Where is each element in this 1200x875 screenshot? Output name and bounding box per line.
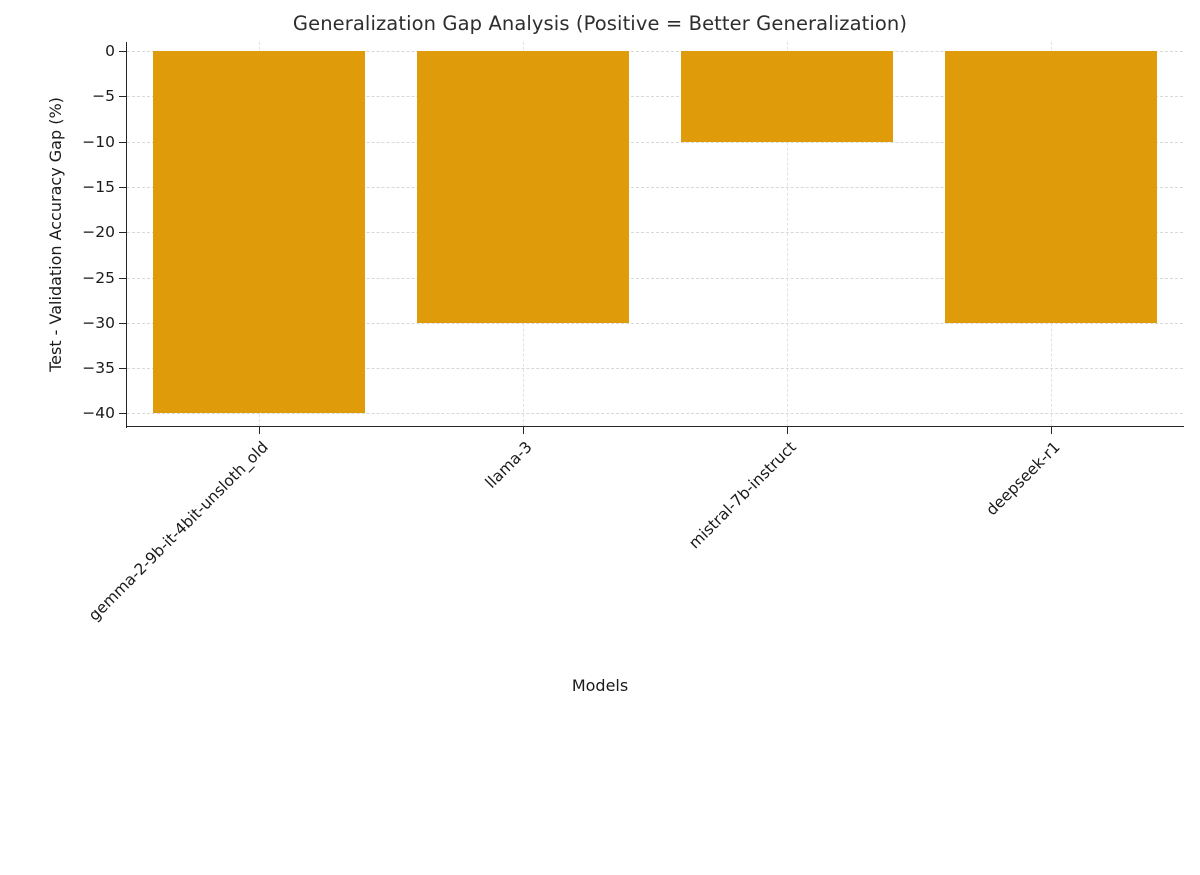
y-tick-label: −30 <box>82 314 115 332</box>
y-tick-label: −20 <box>82 223 115 241</box>
x-axis-spine <box>126 426 1184 427</box>
y-tick-mark <box>119 232 126 233</box>
chart-title: Generalization Gap Analysis (Positive = … <box>0 12 1200 35</box>
x-tick-label-text: mistral-7b-instruct <box>685 438 799 552</box>
y-tick-label: −25 <box>82 269 115 287</box>
y-tick-label: −15 <box>82 178 115 196</box>
x-tick-label-text: gemma-2-9b-it-4bit-unsloth_old <box>85 438 272 625</box>
bar <box>945 51 1156 323</box>
bar <box>681 51 892 142</box>
bar <box>417 51 628 323</box>
y-tick-mark <box>119 51 126 52</box>
y-tick-label: −5 <box>92 87 115 105</box>
y-tick-label: 0 <box>105 42 115 60</box>
x-tick-mark <box>259 427 260 434</box>
x-axis-label: Models <box>0 676 1200 695</box>
chart-figure: Generalization Gap Analysis (Positive = … <box>0 0 1200 720</box>
x-tick-mark <box>523 427 524 434</box>
x-tick-label: llama-3 <box>99 438 536 875</box>
gridline-y--40 <box>127 413 1183 414</box>
x-tick-label: mistral-7b-instruct <box>363 438 800 875</box>
x-tick-label-text: llama-3 <box>482 438 536 492</box>
y-axis-spine <box>126 42 127 428</box>
x-tick-label: deepseek-r1 <box>627 438 1064 875</box>
bar <box>153 51 364 413</box>
x-tick-label-text: deepseek-r1 <box>983 438 1064 519</box>
y-tick-mark <box>119 187 126 188</box>
y-tick-mark <box>119 142 126 143</box>
y-tick-mark <box>119 96 126 97</box>
y-tick-mark <box>119 323 126 324</box>
plot-area <box>127 42 1183 427</box>
y-tick-mark <box>119 278 126 279</box>
y-tick-label: −35 <box>82 359 115 377</box>
y-axis-label: Test - Validation Accuracy Gap (%) <box>46 42 76 427</box>
y-tick-label: −10 <box>82 133 115 151</box>
y-tick-mark <box>119 413 126 414</box>
y-tick-mark <box>119 368 126 369</box>
y-tick-label: −40 <box>82 404 115 422</box>
x-tick-mark <box>787 427 788 434</box>
x-tick-mark <box>1051 427 1052 434</box>
x-tick-label: gemma-2-9b-it-4bit-unsloth_old <box>0 438 272 875</box>
